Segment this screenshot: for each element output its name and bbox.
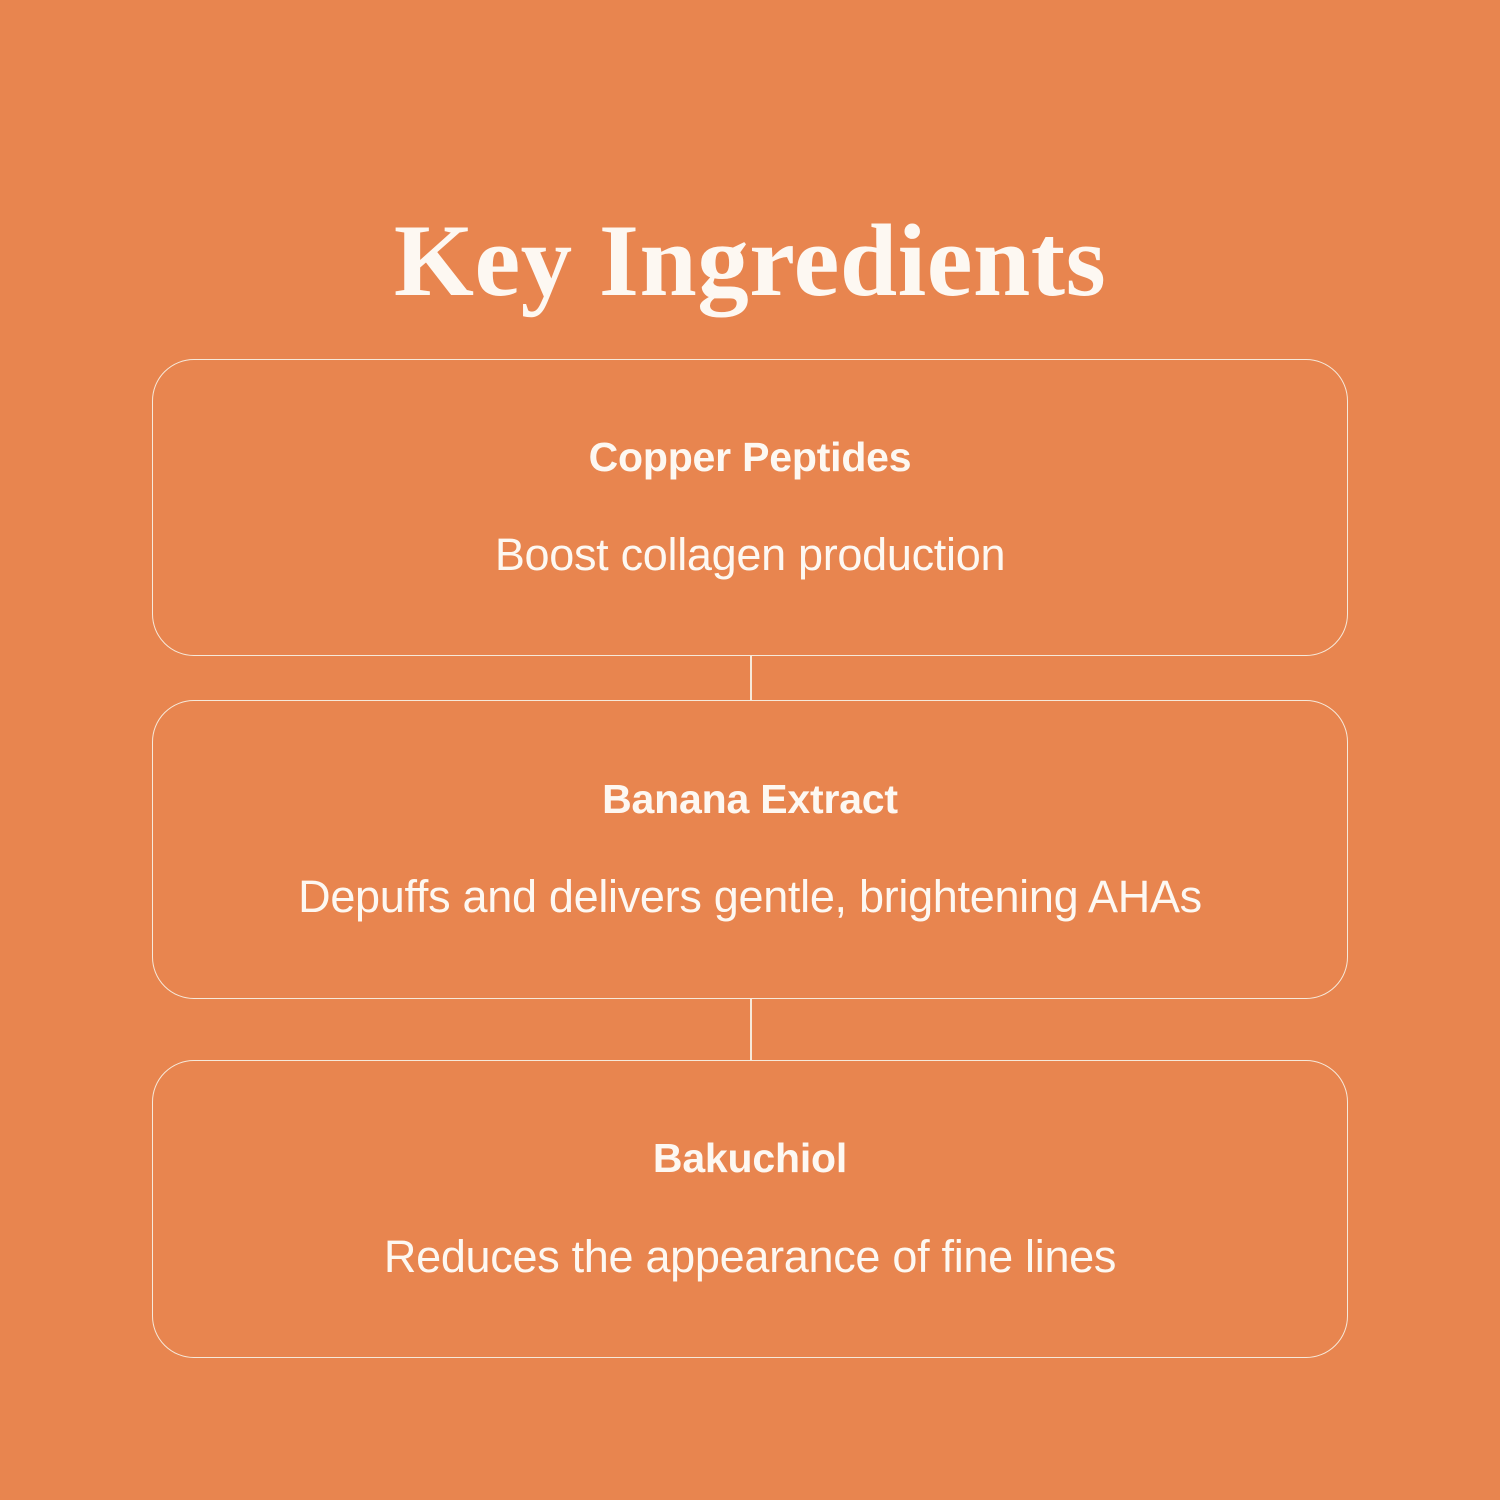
ingredient-name: Copper Peptides bbox=[589, 433, 912, 482]
ingredient-card-stack: Copper Peptides Boost collagen productio… bbox=[152, 359, 1348, 1358]
ingredient-name: Banana Extract bbox=[602, 775, 898, 824]
connector-line-2 bbox=[750, 998, 752, 1061]
ingredient-card-copper-peptides: Copper Peptides Boost collagen productio… bbox=[152, 359, 1348, 656]
ingredient-card-bakuchiol: Bakuchiol Reduces the appearance of fine… bbox=[152, 1060, 1348, 1358]
ingredient-name: Bakuchiol bbox=[653, 1134, 847, 1183]
key-ingredients-page: Key Ingredients Copper Peptides Boost co… bbox=[0, 0, 1500, 1500]
ingredient-benefit: Reduces the appearance of fine lines bbox=[384, 1230, 1116, 1284]
ingredient-benefit: Boost collagen production bbox=[495, 528, 1005, 582]
ingredient-card-banana-extract: Banana Extract Depuffs and delivers gent… bbox=[152, 700, 1348, 999]
connector-line-1 bbox=[750, 655, 752, 701]
page-title: Key Ingredients bbox=[0, 197, 1500, 326]
ingredient-benefit: Depuffs and delivers gentle, brightening… bbox=[298, 870, 1202, 924]
